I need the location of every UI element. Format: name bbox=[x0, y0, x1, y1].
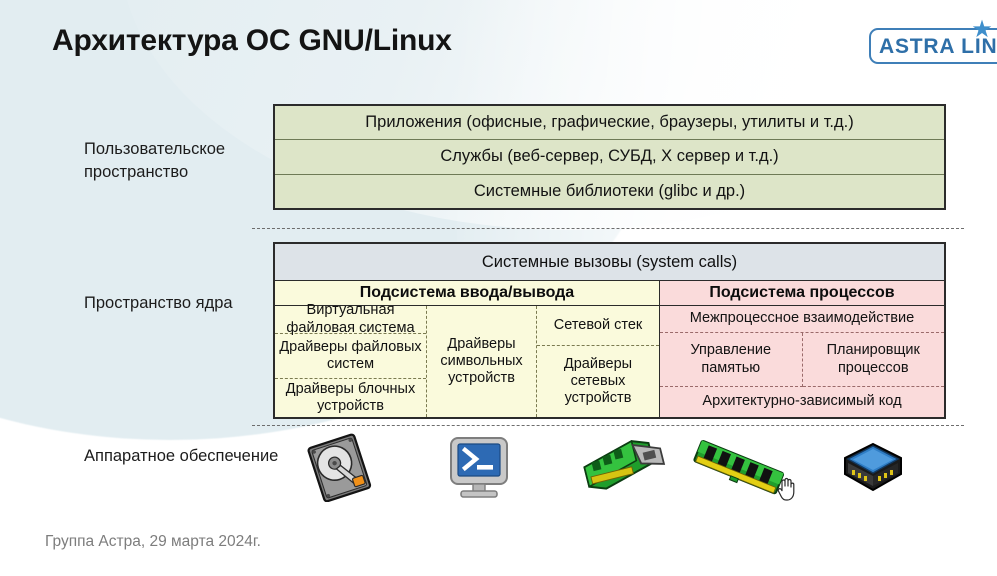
kernel-body: Подсистема ввода/вывода Виртуальная файл… bbox=[275, 281, 944, 417]
slide-canvas: Архитектура ОС GNU/Linux ★ ASTRA LIN Пол… bbox=[0, 0, 997, 576]
io-column-network: Сетевой стек Драйверы сетевых устройств bbox=[537, 306, 659, 417]
system-calls-bar: Системные вызовы (system calls) bbox=[275, 244, 944, 281]
astra-linux-logo: ★ ASTRA LIN bbox=[869, 18, 997, 66]
label-kernel-space: Пространство ядра bbox=[84, 292, 299, 315]
cell-interprocess-communication: Межпроцессное взаимодействие bbox=[660, 306, 944, 333]
io-subsystem-columns: Виртуальная файловая система Драйверы фа… bbox=[275, 306, 659, 417]
ram-module-icon bbox=[690, 438, 786, 505]
separator-user-kernel bbox=[252, 228, 964, 229]
hardware-icons-row bbox=[285, 432, 955, 504]
kernel-space-block: Системные вызовы (system calls) Подсисте… bbox=[273, 242, 946, 419]
label-hardware: Аппаратное обеспечение bbox=[84, 445, 299, 468]
user-space-row-libraries: Системные библиотеки (glibc и др.) bbox=[275, 175, 944, 208]
cell-memory-management: Управление памятью bbox=[660, 333, 803, 387]
cell-block-device-drivers: Драйверы блочных устройств bbox=[275, 379, 426, 417]
cpu-chip-icon bbox=[840, 440, 906, 501]
process-subsystem-panel: Подсистема процессов Межпроцессное взаим… bbox=[660, 281, 944, 417]
footer-text: Группа Астра, 29 марта 2024г. bbox=[45, 533, 261, 551]
cell-char-device-drivers: Драйверы символьных устройств bbox=[427, 306, 536, 417]
hand-cursor bbox=[776, 476, 798, 502]
cell-filesystem-drivers: Драйверы файловых систем bbox=[275, 334, 426, 379]
process-subsystem-middle-row: Управление памятью Планировщик процессов bbox=[660, 333, 944, 387]
user-space-row-services: Службы (веб-сервер, СУБД, X сервер и т.д… bbox=[275, 140, 944, 174]
cell-virtual-file-system: Виртуальная файловая система bbox=[275, 306, 426, 334]
logo-text: ASTRA LIN bbox=[879, 35, 997, 59]
network-card-icon bbox=[580, 440, 666, 503]
hard-disk-icon bbox=[303, 432, 375, 507]
cell-network-device-drivers: Драйверы сетевых устройств bbox=[537, 346, 659, 417]
label-user-space: Пользовательское пространство bbox=[84, 138, 299, 185]
io-column-char-devices: Драйверы символьных устройств bbox=[427, 306, 537, 417]
process-subsystem-title: Подсистема процессов bbox=[660, 281, 944, 306]
cell-architecture-dependent-code: Архитектурно-зависимый код bbox=[660, 387, 944, 417]
cell-process-scheduler: Планировщик процессов bbox=[803, 333, 945, 387]
page-title: Архитектура ОС GNU/Linux bbox=[52, 24, 452, 58]
user-space-row-applications: Приложения (офисные, графические, браузе… bbox=[275, 106, 944, 140]
separator-kernel-hardware bbox=[252, 425, 964, 426]
io-column-filesystem: Виртуальная файловая система Драйверы фа… bbox=[275, 306, 427, 417]
io-subsystem-panel: Подсистема ввода/вывода Виртуальная файл… bbox=[275, 281, 660, 417]
monitor-terminal-icon bbox=[445, 436, 513, 505]
cell-network-stack: Сетевой стек bbox=[537, 306, 659, 346]
user-space-block: Приложения (офисные, графические, браузе… bbox=[273, 104, 946, 210]
